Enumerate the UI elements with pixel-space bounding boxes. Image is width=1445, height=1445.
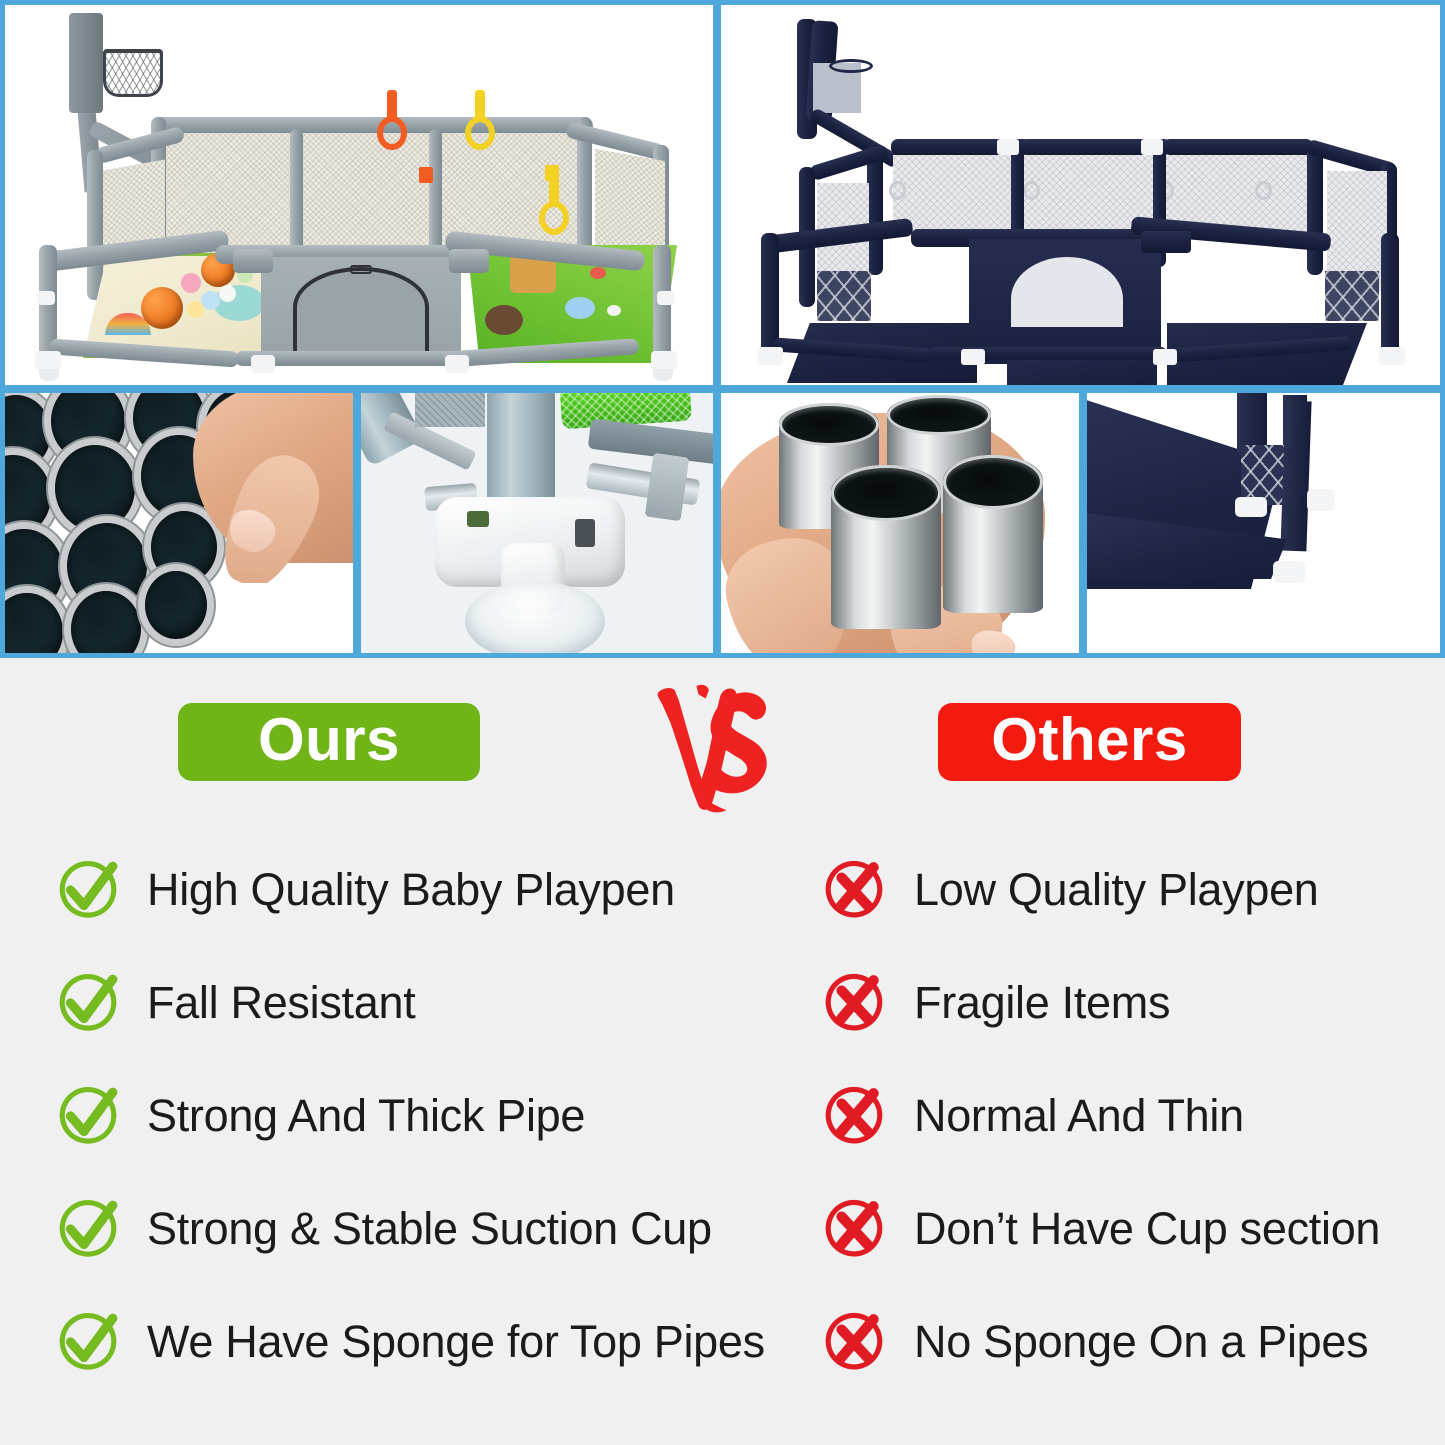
cross-circle-icon <box>822 1196 888 1262</box>
feature-label: Low Quality Playpen <box>914 864 1319 916</box>
vs-icon <box>648 680 782 814</box>
feature-label: Strong & Stable Suction Cup <box>147 1203 712 1255</box>
feature-label: Fall Resistant <box>147 977 415 1029</box>
feature-row: Fragile Items <box>822 946 1422 1059</box>
check-circle-icon <box>55 1196 121 1262</box>
check-circle-icon <box>55 1309 121 1375</box>
product-photo-grid <box>0 0 1445 658</box>
check-circle-icon <box>55 1083 121 1149</box>
feature-row: Low Quality Playpen <box>822 833 1422 946</box>
check-circle-icon <box>55 970 121 1036</box>
ours-badge: Ours <box>178 703 480 781</box>
feature-label: Normal And Thin <box>914 1090 1244 1142</box>
others-badge: Others <box>938 703 1241 781</box>
others-badge-label: Others <box>991 710 1187 770</box>
ours-feature-list: High Quality Baby Playpen Fall Resistant… <box>55 833 785 1398</box>
feature-label: We Have Sponge for Top Pipes <box>147 1316 765 1368</box>
others-corner-no-cup-photo <box>1082 388 1445 658</box>
cross-circle-icon <box>822 857 888 923</box>
feature-label: Strong And Thick Pipe <box>147 1090 585 1142</box>
cross-circle-icon <box>822 1083 888 1149</box>
ours-suction-cup-joint-photo <box>356 388 718 658</box>
feature-row: High Quality Baby Playpen <box>55 833 785 946</box>
feature-label: No Sponge On a Pipes <box>914 1316 1368 1368</box>
others-thin-pipes-photo <box>716 388 1084 658</box>
ours-playpen-photo <box>0 0 718 390</box>
feature-label: Fragile Items <box>914 977 1170 1029</box>
feature-row: We Have Sponge for Top Pipes <box>55 1285 785 1398</box>
feature-row: Normal And Thin <box>822 1059 1422 1172</box>
feature-row: Don’t Have Cup section <box>822 1172 1422 1285</box>
feature-label: Don’t Have Cup section <box>914 1203 1380 1255</box>
feature-row: No Sponge On a Pipes <box>822 1285 1422 1398</box>
check-circle-icon <box>55 857 121 923</box>
feature-row: Strong And Thick Pipe <box>55 1059 785 1172</box>
feature-label: High Quality Baby Playpen <box>147 864 675 916</box>
others-playpen-photo <box>716 0 1445 390</box>
cross-circle-icon <box>822 1309 888 1375</box>
feature-row: Fall Resistant <box>55 946 785 1059</box>
ours-badge-label: Ours <box>258 710 400 770</box>
others-feature-list: Low Quality Playpen Fragile Items Normal… <box>822 833 1422 1398</box>
ours-thick-pipes-photo <box>0 388 358 658</box>
feature-row: Strong & Stable Suction Cup <box>55 1172 785 1285</box>
cross-circle-icon <box>822 970 888 1036</box>
